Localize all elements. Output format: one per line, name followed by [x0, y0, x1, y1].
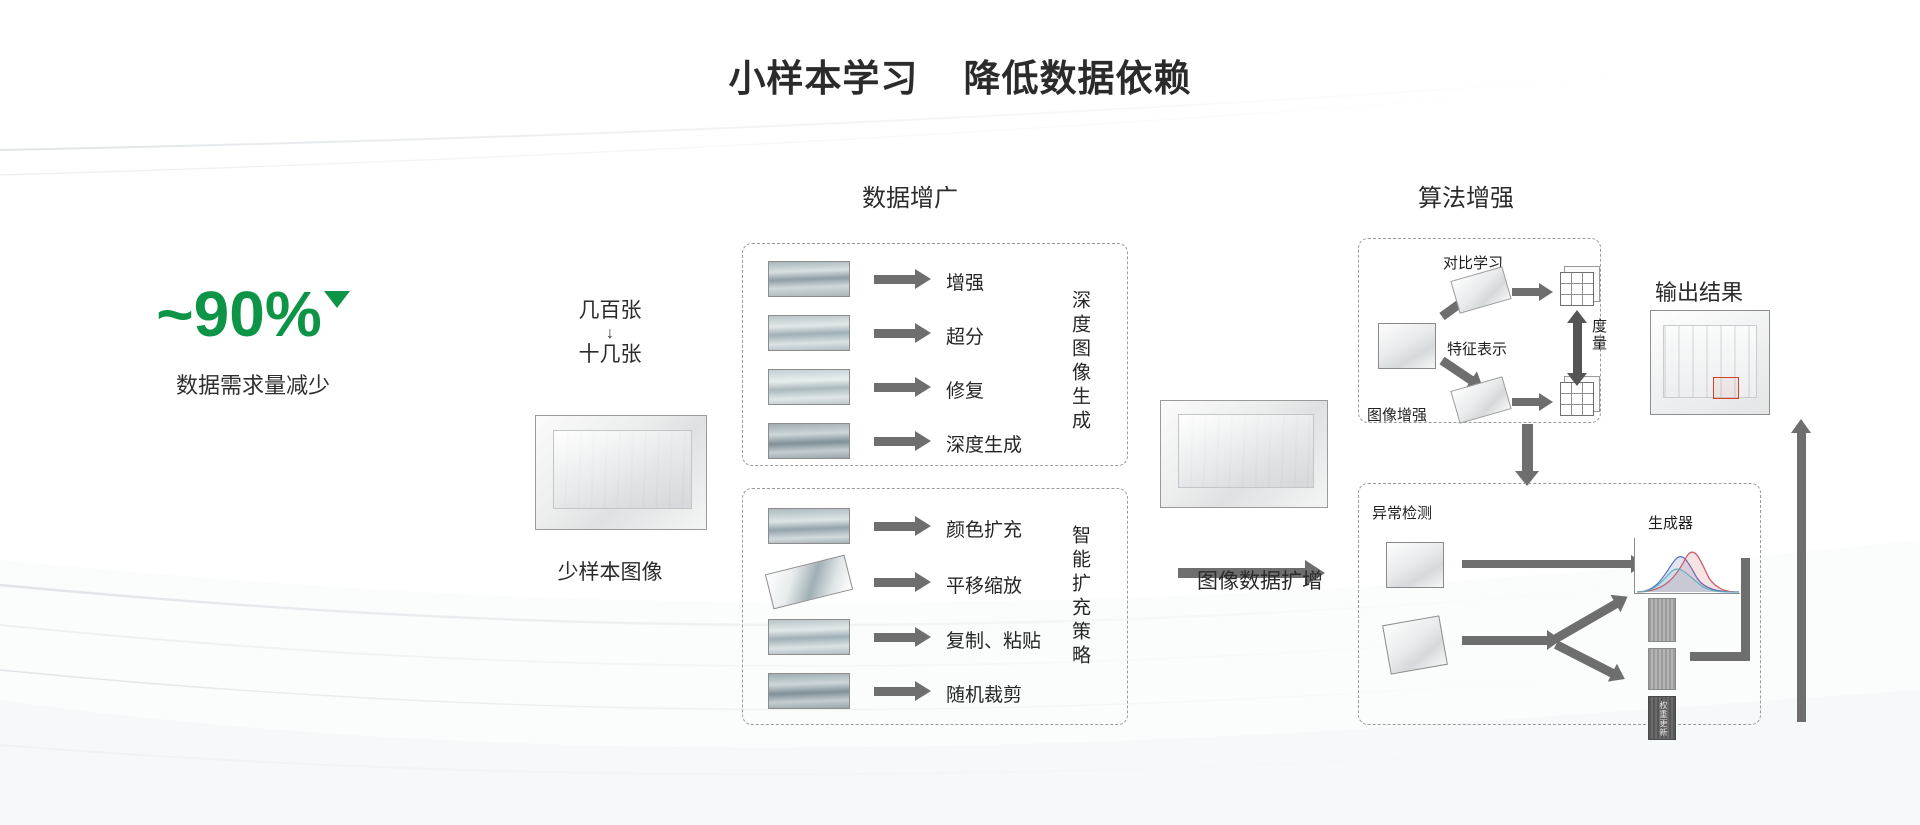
- arrow-right-icon: [1462, 560, 1632, 568]
- source-image: [1378, 323, 1436, 369]
- augmentation-heading: 数据增广: [862, 178, 958, 213]
- sample-counts: 几百张 ↓ 十几张: [520, 298, 700, 369]
- augmentation-row-label: 深度生成: [946, 430, 1022, 457]
- output-heading: 输出结果: [1655, 275, 1743, 307]
- weight-update-bar: 权重更新: [1648, 696, 1676, 740]
- row-thumbnail: [768, 261, 850, 297]
- arrow-right-icon: [874, 275, 916, 284]
- arrow-right-icon: [874, 329, 916, 338]
- weight-bar-1: [1648, 598, 1676, 642]
- arrow-right-icon: [1462, 636, 1548, 645]
- anomaly-title: 异常检测: [1372, 502, 1432, 523]
- algorithm-heading: 算法增强: [1418, 178, 1514, 213]
- row-thumbnail: [768, 369, 850, 405]
- row-thumbnail: [768, 619, 850, 655]
- augmentation-row-label: 随机裁剪: [946, 680, 1022, 707]
- augmented-thumbnail: [1161, 401, 1327, 507]
- sample-thumbnail: [536, 416, 706, 529]
- image-augmentation-label: 图像增强: [1367, 404, 1427, 425]
- output-result-inner: [1663, 325, 1757, 397]
- arrow-right-icon: [874, 522, 916, 531]
- row-thumbnail: [768, 423, 850, 459]
- stat-value: ~90%: [156, 282, 321, 346]
- count-after: 十几张: [520, 342, 700, 369]
- feature-cube-top: [1560, 272, 1594, 306]
- augmentation-row-label: 修复: [946, 376, 984, 403]
- metric-double-arrow-icon: [1573, 322, 1582, 374]
- deep-generation-vertical-label: 深度图像生成: [1069, 290, 1089, 434]
- augmentation-row-label: 复制、粘贴: [946, 626, 1041, 653]
- feature-representation-label: 特征表示: [1447, 338, 1507, 359]
- triangle-down-icon: [324, 291, 350, 308]
- anomaly-input-image-top: [1386, 542, 1444, 588]
- stat-block: ~90% 数据需求量减少: [108, 282, 398, 400]
- sample-caption: 少样本图像: [500, 556, 720, 586]
- generator-label: 生成器: [1648, 512, 1693, 533]
- page-title: 小样本学习 降低数据依赖: [0, 48, 1920, 102]
- augmentation-row-label: 增强: [946, 268, 984, 295]
- weight-update-text: 权重更新: [1658, 701, 1669, 737]
- anomaly-input-image-bottom: [1382, 615, 1448, 674]
- few-shot-sample-image: [535, 415, 707, 530]
- arrow-right-icon: [874, 633, 916, 642]
- augmentation-row-label: 超分: [946, 322, 984, 349]
- arrow-down-icon: [1522, 424, 1533, 472]
- smart-strategy-vertical-label: 智能扩充策略: [1069, 525, 1089, 669]
- distribution-plot: [1634, 538, 1740, 594]
- arrow-right-icon: [874, 437, 916, 446]
- feedback-vertical-line: [1741, 558, 1750, 658]
- output-result-image: [1650, 310, 1770, 415]
- arrow-right-icon: [874, 383, 916, 392]
- weight-bar-2: [1648, 648, 1676, 690]
- distribution-curves: [1635, 538, 1741, 594]
- metric-label: 度量: [1588, 318, 1609, 352]
- arrow-right-icon: [874, 687, 916, 696]
- row-thumbnail: [768, 673, 850, 709]
- arrow-right-icon: [1512, 398, 1540, 406]
- arrow-down-icon: ↓: [520, 325, 700, 343]
- stat-label: 数据需求量减少: [108, 368, 398, 400]
- arrow-right-icon: [1512, 288, 1540, 296]
- arrow-up-icon: [1797, 432, 1806, 722]
- defect-bounding-box: [1713, 377, 1739, 399]
- row-thumbnail: [768, 508, 850, 544]
- augmentation-row-label: 颜色扩充: [946, 515, 1022, 542]
- augmentation-row-label: 平移缩放: [946, 571, 1022, 598]
- arrow-right-icon: [874, 578, 916, 587]
- row-thumbnail: [768, 315, 850, 351]
- augmented-dataset-image: [1160, 400, 1328, 508]
- count-before: 几百张: [520, 298, 700, 325]
- feature-cube-bottom: [1560, 382, 1594, 416]
- middle-caption: 图像数据扩增: [1140, 565, 1380, 595]
